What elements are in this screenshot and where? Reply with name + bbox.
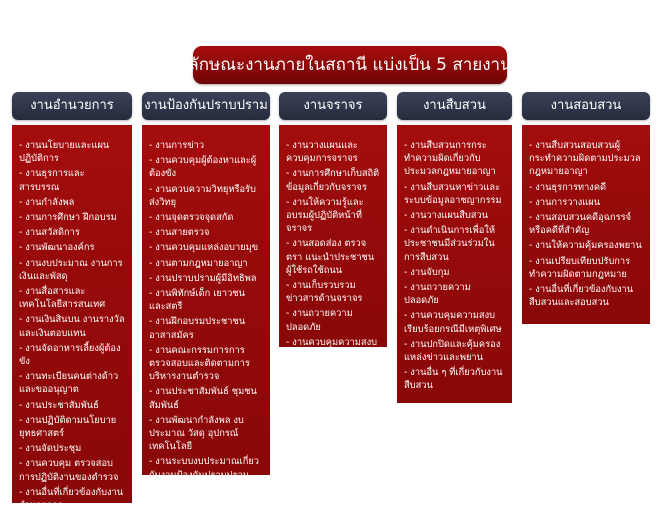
list-item: - งานการศึกษา ฝึกอบรม (19, 211, 125, 224)
list-item: - งานธุรการและสารบรรณ (19, 167, 125, 193)
column-header-label: งานสอบสวน (551, 98, 622, 114)
list-item: - งานฝึกอบรมประชาชนอาสาสมัคร (149, 315, 263, 341)
list-item: - งานคณะกรรมการการตรวจสอบและติดตามการบริ… (149, 344, 263, 384)
list-item: - งานปกปิดและคุ้มครองแหล่งข่าวและพยาน (404, 338, 505, 364)
list-item: - งานการวางแผน (529, 196, 643, 209)
list-item: - งานประชาสัมพันธ์ (19, 399, 125, 412)
list-item: - งานควบคุมความสงบเรียบร้อยกรณีมีเหตุพิเ… (404, 309, 505, 335)
column-header-investigation[interactable]: งานสืบสวน (397, 92, 512, 120)
column-header-label: งานจราจร (303, 98, 362, 114)
list-item: - งานธุรการทางคดี (529, 181, 643, 194)
page-title: ลักษณะงานภายในสถานี แบ่งเป็น 5 สายงาน (188, 55, 511, 75)
list-item: - งานตามกฎหมายอาญา (149, 257, 263, 270)
list-item: - งานควบคุม ตรวจสอบการปฏิบัติงานของตำรวจ (19, 457, 125, 483)
list-item: - งานพัฒนาองค์กร (19, 241, 125, 254)
list-item: - งานดำเนินการเพื่อให้ประชาชนมีส่วนร่วมใ… (404, 224, 505, 264)
list-item: - งานจัดประชุม (19, 442, 125, 455)
list-item: - งานประชาสัมพันธ์ ชุมชนสัมพันธ์ (149, 385, 263, 411)
list-item: - งานวางแผนและควบคุมการจราจร (286, 139, 380, 165)
org-chart-board: ลักษณะงานภายในสถานี แบ่งเป็น 5 สายงาน งา… (0, 0, 662, 513)
column-header-traffic[interactable]: งานจราจร (279, 92, 387, 120)
list-item: - งานควบคุมแหล่งอบายมุข (149, 241, 263, 254)
list-item: - งานกำลังพล (19, 196, 125, 209)
list-item: - งานระบบงบประมาณเกี่ยวกับงานป้องกันปราบ… (149, 455, 263, 475)
list-item: - งานจุดตรวจจุดสกัด (149, 211, 263, 224)
list-item: - งานสืบสวนการกระทำความผิดเกี่ยวกับประมว… (404, 139, 505, 179)
list-item: - งานอื่นที่เกี่ยวข้องกับงานสืบสวนและสอบ… (529, 283, 643, 309)
list-item: - งานอื่นที่เกี่ยวข้องกับงานอำนวยการ (19, 486, 125, 503)
list-item: - งานให้ความรู้และอบรมผู้ปฏิบัติหน้าที่จ… (286, 196, 380, 236)
list-item: - งานให้ความคุ้มครองพยาน (529, 239, 643, 252)
list-item: - งานปฏิบัติตามนโยบาย ยุทธศาสตร์ (19, 414, 125, 440)
list-item: - งานปราบปรามผู้มีอิทธิพล (149, 272, 263, 285)
list-item: - งานสืบสวนหาข่าวและระบบข้อมูลอาชญากรรม (404, 181, 505, 207)
list-item: - งานนโยบายและแผนปฏิบัติการ (19, 139, 125, 165)
list-item: - งานเก็บรวบรวมข่าวสารด้านจราจร (286, 279, 380, 305)
list-item: - งานสวัสดิการ (19, 226, 125, 239)
column-body-administration: - งานนโยบายและแผนปฏิบัติการ- งานธุรการแล… (12, 125, 132, 503)
list-item: - งานจับกุม (404, 266, 505, 279)
list-item: - งานการศึกษาเก็บสถิติข้อมูลเกี่ยวกับจรา… (286, 167, 380, 193)
column-header-inquiry[interactable]: งานสอบสวน (522, 92, 650, 120)
list-item: - งานควบคุมผู้ต้องหาและผู้ต้องขัง (149, 154, 263, 180)
column-header-administration[interactable]: งานอำนวยการ (12, 92, 132, 120)
list-item: - งานสอบสวนคดีอุฉกรรจ์หรือคดีที่สำคัญ (529, 211, 643, 237)
list-item: - งานถวายความปลอดภัย (404, 281, 505, 307)
list-item: - งานจัดอาหารเลี้ยงผู้ต้องขัง (19, 342, 125, 368)
list-item: - งานเงินสินบน งานรางวัลและเงินตอบแทน (19, 313, 125, 339)
column-header-label: งานอำนวยการ (30, 98, 114, 114)
list-item: - งานพัฒนากำลังพล งบประมาณ วัสดุ อุปกรณ์… (149, 414, 263, 454)
list-item: - งานงบประมาณ งานการเงินและพัสดุ (19, 257, 125, 283)
column-header-label: งานสืบสวน (423, 98, 486, 114)
list-item: - งานสายตรวจ (149, 226, 263, 239)
column-body-traffic: - งานวางแผนและควบคุมการจราจร- งานการศึกษ… (279, 125, 387, 347)
list-item: - งานอื่น ๆ ที่เกี่ยวกับงานสืบสวน (404, 366, 505, 392)
list-item: - งานพิทักษ์เด็ก เยาวชน และสตรี (149, 287, 263, 313)
column-body-crime-prevention: - งานการข่าว- งานควบคุมผู้ต้องหาและผู้ต้… (142, 125, 270, 475)
list-item: - งานสืบสวนสอบสวนผู้กระทำความผิดตามประมว… (529, 139, 643, 179)
list-item: - งานควบความวิทยุหรือรับส่งวิทยุ (149, 183, 263, 209)
column-body-inquiry: - งานสืบสวนสอบสวนผู้กระทำความผิดตามประมว… (522, 125, 650, 324)
list-item: - งานควบคุมความสงบเรียบร้อย (286, 336, 380, 347)
list-item: - งานถวายความปลอดภัย (286, 307, 380, 333)
column-header-label: งานป้องกันปราบปราม (144, 98, 268, 114)
list-item: - งานเปรียบเทียบปรับการทำความผิดตามกฎหมา… (529, 255, 643, 281)
list-item: - งานสื่อสารและเทคโนโลยีสารสนเทศ (19, 285, 125, 311)
column-body-investigation: - งานสืบสวนการกระทำความผิดเกี่ยวกับประมว… (397, 125, 512, 403)
list-item: - งานสอดส่อง ตรวจตรา แนะนำประชาชน ผู้ใช้… (286, 237, 380, 277)
list-item: - งานทะเบียนคนต่างด้าวและขออนุญาต (19, 370, 125, 396)
column-header-crime-prevention[interactable]: งานป้องกันปราบปราม (142, 92, 270, 120)
list-item: - งานการข่าว (149, 139, 263, 152)
list-item: - งานวางแผนสืบสวน (404, 209, 505, 222)
page-title-banner: ลักษณะงานภายในสถานี แบ่งเป็น 5 สายงาน (193, 46, 507, 84)
